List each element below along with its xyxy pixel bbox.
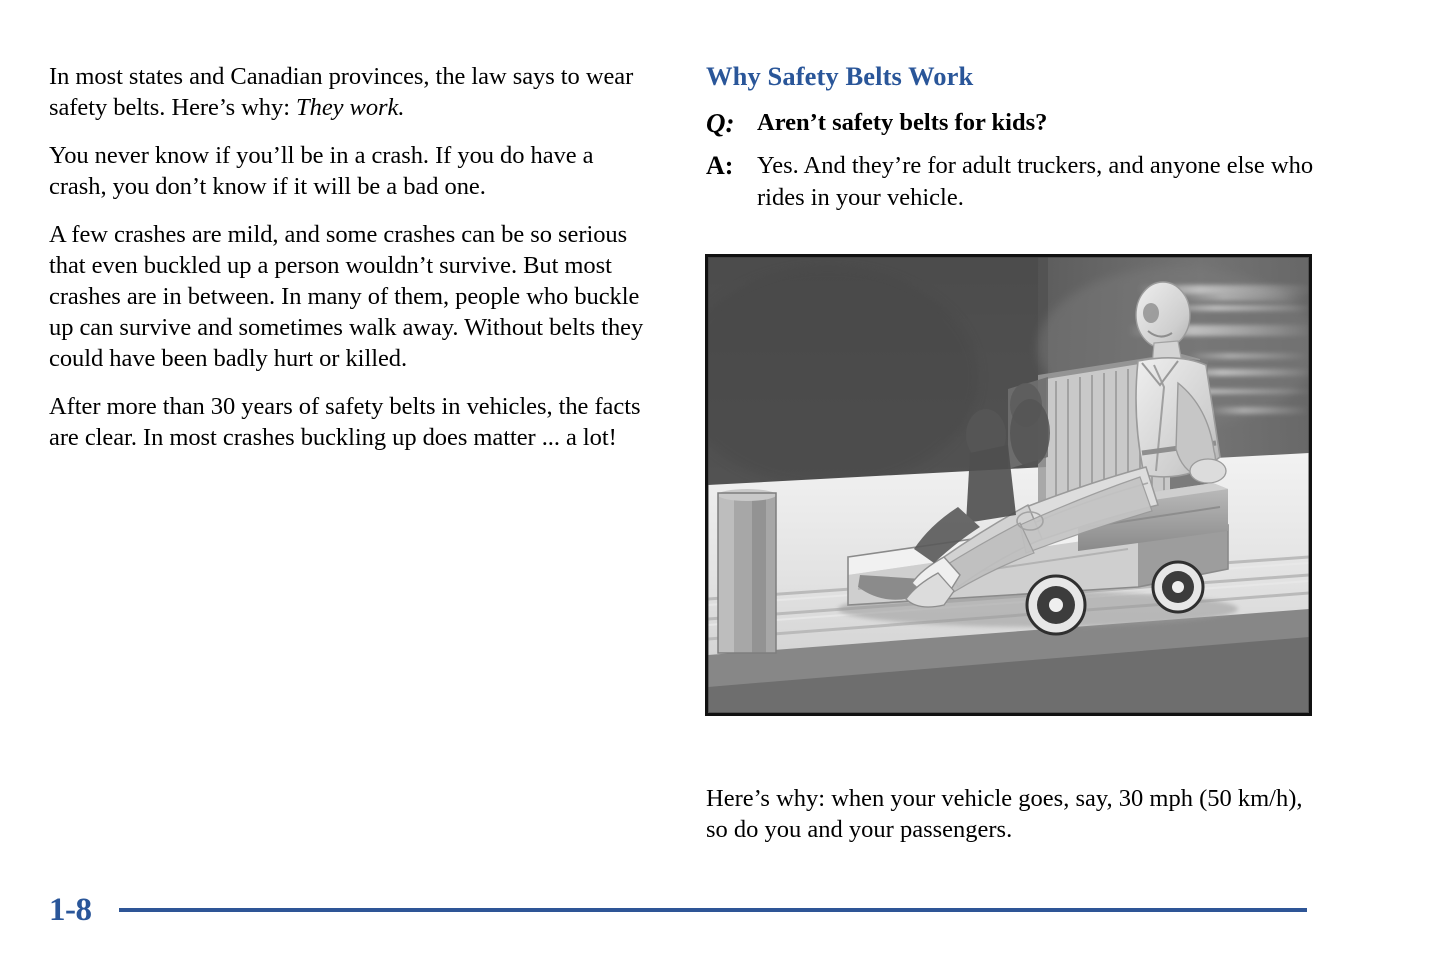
right-text-column: Why Safety Belts Work Q: Aren’t safety b… (706, 61, 1316, 225)
crash-test-sled-illustration (705, 254, 1312, 716)
qa-item-answer: A: Yes. And they’re for adult truckers, … (706, 150, 1316, 214)
paragraph-unpredictable-crash: You never know if you’ll be in a crash. … (49, 140, 654, 202)
page-footer: 1-8 (49, 889, 1314, 931)
paragraph-facts-are-clear: After more than 30 years of safety belts… (49, 391, 654, 453)
page-number: 1-8 (49, 894, 92, 927)
footer-divider-rule (119, 908, 1307, 912)
crash-test-sled-drawing (708, 257, 1309, 713)
left-text-column: In most states and Canadian provinces, t… (49, 61, 654, 470)
figure-caption: Here’s why: when your vehicle goes, say,… (706, 783, 1316, 845)
paragraph-intro-text-emphasis: They work. (296, 94, 404, 121)
section-heading-why-safety-belts-work: Why Safety Belts Work (706, 61, 1316, 91)
answer-text: Yes. And they’re for adult truckers, and… (757, 152, 1313, 211)
paragraph-intro: In most states and Canadian provinces, t… (49, 61, 654, 123)
document-page: In most states and Canadian provinces, t… (0, 0, 1445, 961)
answer-marker: A: (706, 150, 733, 182)
paragraph-crash-severity: A few crashes are mild, and some crashes… (49, 219, 654, 374)
question-marker: Q: (706, 107, 735, 139)
question-text: Aren’t safety belts for kids? (757, 109, 1047, 136)
qa-item-question: Q: Aren’t safety belts for kids? (706, 107, 1316, 139)
